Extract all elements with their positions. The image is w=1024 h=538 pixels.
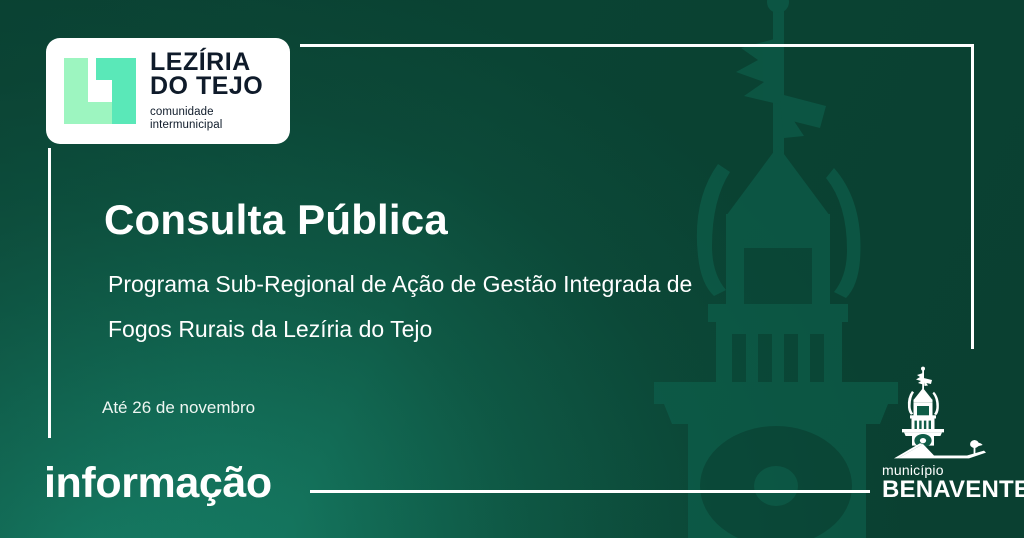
page-subtitle-line2: Fogos Rurais da Lezíria do Tejo <box>108 307 692 352</box>
benavente-logo-text: município BENAVENTE <box>874 463 1006 502</box>
frame-line-bottom <box>310 490 870 493</box>
page-subtitle-line1: Programa Sub-Regional de Ação de Gestão … <box>108 262 692 307</box>
leziria-logo-text: LEZÍRIA DO TEJO comunidade intermunicipa… <box>150 50 263 132</box>
leziria-l7-mark-icon <box>62 56 138 126</box>
benavente-municipal-logo: município BENAVENTE <box>874 366 1006 500</box>
frame-line-top <box>300 44 974 47</box>
deadline-text: Até 26 de novembro <box>102 398 255 418</box>
leziria-logo-subtitle: comunidade intermunicipal <box>150 106 263 132</box>
leziria-do-tejo-logo: LEZÍRIA DO TEJO comunidade intermunicipa… <box>46 38 290 144</box>
poster-canvas: LEZÍRIA DO TEJO comunidade intermunicipa… <box>0 0 1024 538</box>
leziria-logo-subtitle-line2: intermunicipal <box>150 119 263 132</box>
leziria-logo-title-line1: LEZÍRIA <box>150 50 263 74</box>
page-subtitle: Programa Sub-Regional de Ação de Gestão … <box>108 262 692 352</box>
leziria-logo-subtitle-line1: comunidade <box>150 106 263 119</box>
benavente-clock-tower-icon <box>874 366 1006 462</box>
benavente-logo-small-label: município <box>882 463 1006 477</box>
leziria-logo-title: LEZÍRIA DO TEJO <box>150 50 263 98</box>
category-kicker: informação <box>44 459 272 508</box>
frame-line-right <box>971 44 974 349</box>
leziria-logo-title-line2: DO TEJO <box>150 74 263 98</box>
benavente-logo-big-label: BENAVENTE <box>882 477 1006 502</box>
frame-line-left <box>48 148 51 438</box>
page-title: Consulta Pública <box>104 196 448 244</box>
